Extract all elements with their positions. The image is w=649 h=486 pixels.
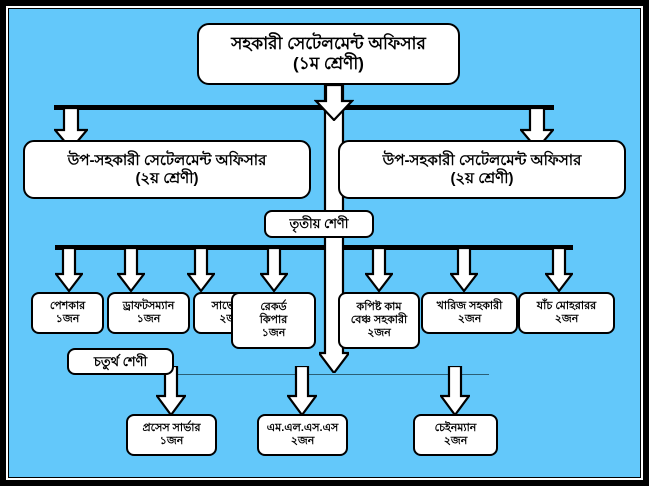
arrow-to-level3-6 [450, 248, 478, 292]
node-line-2: (২য় শ্রেণী) [135, 170, 198, 188]
node-line-2: ২জন [291, 435, 315, 448]
node-line-1: খারিজ সহকারী [437, 300, 503, 313]
arrow-to-level3-3 [187, 248, 215, 292]
node-line-1: রেকর্ড [260, 301, 286, 314]
level2-connector-bar [54, 105, 554, 110]
node-draftsman[interactable]: ড্রাফটসম্যান ১জন [107, 292, 190, 334]
node-line-1: ড্রাফটসম্যান [123, 300, 175, 313]
node-line-1: প্রসেস সার্ভার [142, 422, 200, 435]
arrow-to-level4-3 [440, 366, 470, 416]
tag-text: তৃতীয় শেণী [289, 216, 348, 231]
node-mlss[interactable]: এম.এল.এস.এস ২জন [257, 414, 348, 456]
organogram-diagram: সহকারী সেটেলমেন্ট অফিসার (১ম শ্রেণী) [0, 0, 649, 486]
node-record-keeper[interactable]: রেকর্ড কিপার ১জন [231, 292, 316, 349]
tag-text: চতুর্থ শেণী [94, 354, 147, 369]
label-third-class: তৃতীয় শেণী [264, 210, 374, 238]
node-line-2: ১জন [137, 313, 161, 326]
node-line-1: উপ-সহকারী সেটেলমেন্ট অফিসার [68, 152, 267, 170]
top-split-arrow [314, 85, 354, 121]
node-line-2: ২জন [555, 313, 579, 326]
diagram-canvas: সহকারী সেটেলমেন্ট অফিসার (১ম শ্রেণী) [9, 9, 640, 477]
node-copyist-cum-bench-assistant[interactable]: কপিষ্ট কাম বেঞ্চ সহকারী ২জন [338, 292, 420, 349]
node-line-3: ১জন [262, 327, 286, 340]
node-assistant-settlement-officer[interactable]: সহকারী সেটেলমেন্ট অফিসার (১ম শ্রেণী) [197, 23, 460, 85]
node-line-2: ১জন [160, 435, 184, 448]
node-deputy-assistant-settlement-officer-right[interactable]: উপ-সহকারী সেটেলমেন্ট অফিসার (২য় শ্রেণী) [338, 140, 626, 199]
node-line-1: চেইনম্যান [435, 422, 477, 435]
node-line-2: ১জন [56, 313, 80, 326]
arrow-to-level3-4 [260, 248, 288, 292]
node-line-2: ২জন [444, 435, 468, 448]
node-line-1: সহকারী সেটেলমেন্ট অফিসার [231, 34, 426, 54]
node-kharij-assistant[interactable]: খারিজ সহকারী ২জন [421, 292, 518, 334]
node-line-3: ২জন [367, 327, 391, 340]
node-process-server[interactable]: প্রসেস সার্ভার ১জন [126, 414, 217, 456]
node-line-1: যাঁচ মোহরারর [537, 300, 596, 313]
node-line-2: ২জন [458, 313, 482, 326]
node-peshkar[interactable]: পেশকার ১জন [31, 292, 104, 334]
node-deputy-assistant-settlement-officer-left[interactable]: উপ-সহকারী সেটেলমেন্ট অফিসার (২য় শ্রেণী) [23, 140, 311, 199]
node-line-1: পেশকার [50, 300, 85, 313]
arrow-to-level3-5 [365, 248, 393, 292]
node-line-2: বেঞ্চ সহকারী [351, 314, 407, 327]
node-chainman[interactable]: চেইনম্যান ২জন [413, 414, 498, 456]
arrow-to-level3-1 [55, 248, 83, 292]
node-line-1: উপ-সহকারী সেটেলমেন্ট অফিসার [383, 152, 582, 170]
node-line-2: (১ম শ্রেণী) [293, 54, 364, 74]
label-fourth-class: চতুর্থ শেণী [67, 348, 174, 375]
node-line-1: এম.এল.এস.এস [267, 422, 338, 435]
arrow-to-level3-7 [545, 248, 573, 292]
node-line-2: (২য় শ্রেণী) [450, 170, 513, 188]
node-jaunch-moharrar[interactable]: যাঁচ মোহরারর ২জন [518, 292, 615, 334]
arrow-to-level4-2 [287, 366, 317, 416]
arrow-to-level3-2 [117, 248, 145, 292]
node-line-2: কিপার [260, 314, 288, 327]
node-line-1: কপিষ্ট কাম [357, 301, 402, 314]
